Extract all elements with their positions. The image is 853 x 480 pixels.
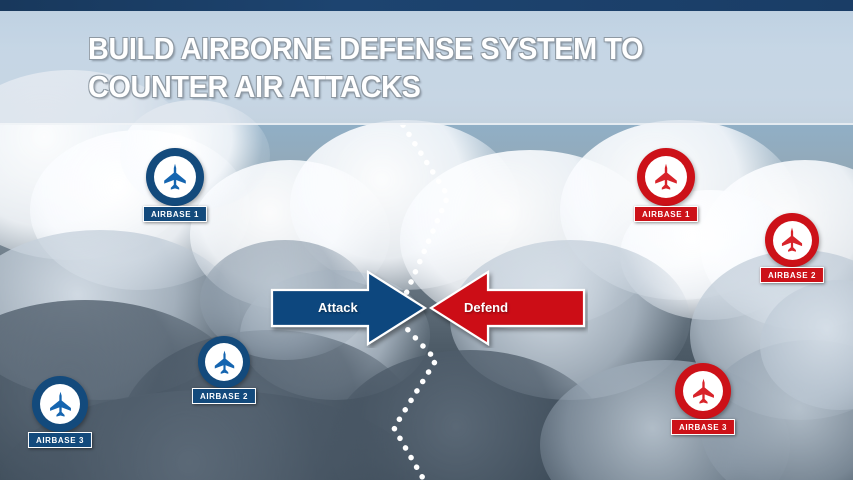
airbase-icon-disc	[40, 384, 80, 424]
airbase-label: AIRBASE 3	[28, 432, 92, 448]
airbase-circle	[675, 363, 731, 419]
fighter-jet-icon	[778, 226, 806, 254]
airbase-marker-blue-2[interactable]: AIRBASE 2	[198, 336, 250, 388]
airbase-icon-disc	[154, 156, 196, 198]
fighter-jet-icon	[46, 390, 75, 419]
fighter-jet-icon	[211, 349, 238, 376]
airbase-circle	[146, 148, 204, 206]
top-accent-strip	[0, 0, 853, 11]
page-title: BUILD AIRBORNE DEFENSE SYSTEM TO COUNTER…	[88, 30, 776, 106]
airbase-label: AIRBASE 2	[192, 388, 256, 404]
airbase-label: AIRBASE 2	[760, 267, 824, 283]
airbase-label: AIRBASE 1	[634, 206, 698, 222]
airbase-circle	[198, 336, 250, 388]
airbase-icon-disc	[205, 343, 243, 381]
page-title-line-1: BUILD AIRBORNE DEFENSE SYSTEM TO	[88, 30, 776, 68]
airbase-marker-blue-1[interactable]: AIRBASE 1	[146, 148, 204, 206]
slide-canvas: BUILD AIRBORNE DEFENSE SYSTEM TO COUNTER…	[0, 0, 853, 480]
airbase-marker-red-1[interactable]: AIRBASE 1	[637, 148, 695, 206]
airbase-circle	[637, 148, 695, 206]
airbase-circle	[32, 376, 88, 432]
attack-arrow-label: Attack	[318, 300, 358, 315]
attack-defend-arrows: Attack Defend	[268, 268, 588, 348]
airbase-icon-disc	[645, 156, 687, 198]
fighter-jet-icon	[689, 377, 718, 406]
airbase-icon-disc	[773, 221, 812, 260]
airbase-circle	[765, 213, 819, 267]
airbase-label: AIRBASE 3	[671, 419, 735, 435]
defend-arrow-label: Defend	[464, 300, 508, 315]
arrows-graphic	[268, 268, 588, 348]
airbase-marker-red-3[interactable]: AIRBASE 3	[675, 363, 731, 419]
fighter-jet-icon	[160, 162, 190, 192]
airbase-marker-red-2[interactable]: AIRBASE 2	[765, 213, 819, 267]
airbase-icon-disc	[683, 371, 723, 411]
airbase-marker-blue-3[interactable]: AIRBASE 3	[32, 376, 88, 432]
fighter-jet-icon	[651, 162, 681, 192]
airbase-label: AIRBASE 1	[143, 206, 207, 222]
page-title-line-2: COUNTER AIR ATTACKS	[88, 68, 776, 106]
